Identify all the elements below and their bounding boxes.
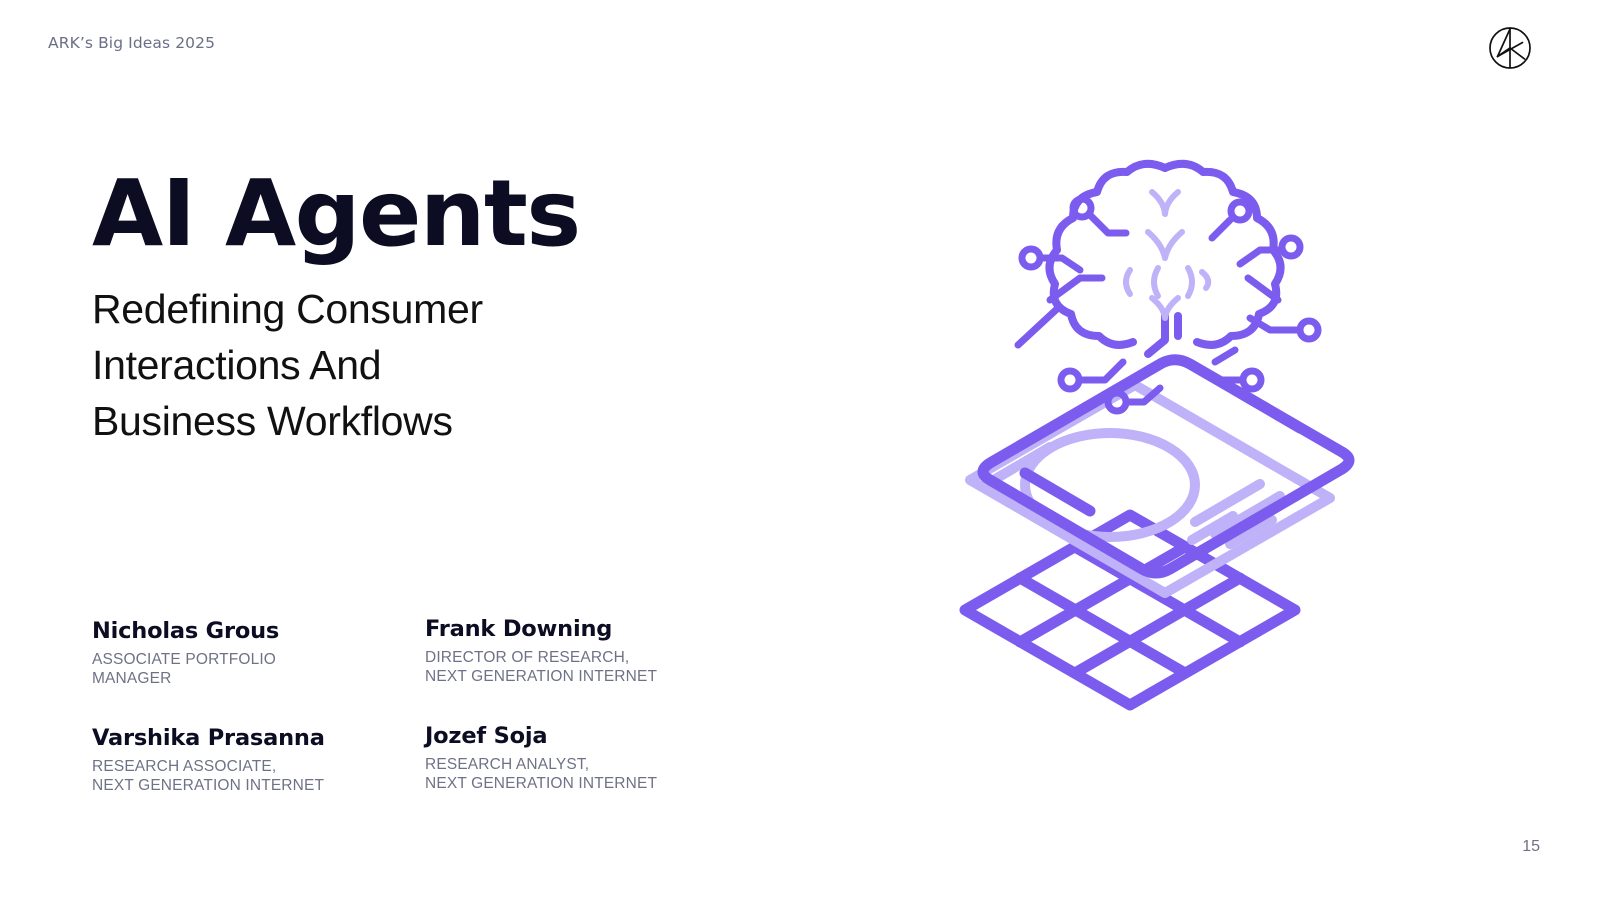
author-name: Varshika Prasanna	[92, 725, 425, 751]
slide-content: AI Agents Redefining Consumer Interactio…	[92, 168, 712, 449]
author-role: ASSOCIATE PORTFOLIO MANAGER	[92, 651, 425, 689]
deck-eyebrow-title: ARK’s Big Ideas 2025	[48, 34, 215, 52]
page-title: AI Agents	[92, 168, 712, 260]
ark-logo-icon	[1488, 26, 1532, 70]
subtitle-line-2: Interactions And	[92, 338, 712, 394]
page-number: 15	[1522, 838, 1540, 856]
author-role-line-2: NEXT GENERATION INTERNET	[425, 775, 692, 794]
author-role: RESEARCH ASSOCIATE, NEXT GENERATION INTE…	[92, 758, 425, 796]
author-role-line-1: RESEARCH ASSOCIATE,	[92, 758, 425, 777]
ai-agent-stack-illustration	[930, 140, 1400, 760]
author-entry-frank-downing: Frank Downing DIRECTOR OF RESEARCH, NEXT…	[425, 616, 692, 689]
page-subtitle: Redefining Consumer Interactions And Bus…	[92, 282, 712, 449]
author-role-line-1: DIRECTOR OF RESEARCH,	[425, 649, 692, 668]
author-role-line-1: ASSOCIATE PORTFOLIO	[92, 651, 425, 670]
author-role: DIRECTOR OF RESEARCH, NEXT GENERATION IN…	[425, 649, 692, 687]
author-name: Frank Downing	[425, 616, 692, 642]
author-role-line-2: NEXT GENERATION INTERNET	[92, 777, 425, 796]
author-name: Nicholas Grous	[92, 618, 425, 644]
author-role-line-2: MANAGER	[92, 670, 425, 689]
author-role-line-1: RESEARCH ANALYST,	[425, 756, 692, 775]
author-name: Jozef Soja	[425, 723, 692, 749]
author-entry-nicholas-grous: Nicholas Grous ASSOCIATE PORTFOLIO MANAG…	[92, 618, 425, 689]
subtitle-line-1: Redefining Consumer	[92, 282, 712, 338]
author-entry-varshika-prasanna: Varshika Prasanna RESEARCH ASSOCIATE, NE…	[92, 725, 425, 796]
brain-circuit-icon	[1018, 164, 1318, 411]
author-role-line-2: NEXT GENERATION INTERNET	[425, 668, 692, 687]
author-list: Nicholas Grous ASSOCIATE PORTFOLIO MANAG…	[92, 618, 692, 796]
author-role: RESEARCH ANALYST, NEXT GENERATION INTERN…	[425, 756, 692, 794]
subtitle-line-3: Business Workflows	[92, 394, 712, 450]
author-entry-jozef-soja: Jozef Soja RESEARCH ANALYST, NEXT GENERA…	[425, 723, 692, 796]
